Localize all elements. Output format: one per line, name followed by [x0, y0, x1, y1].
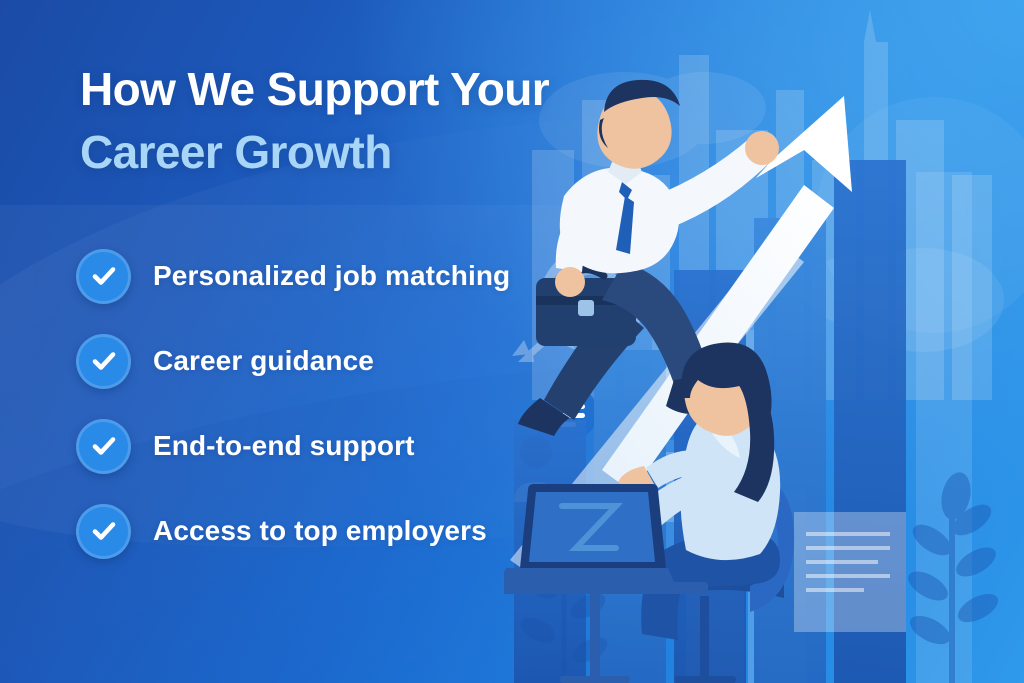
- paper-document: [794, 512, 906, 632]
- benefits-checklist: Personalized job matching Career guidanc…: [76, 248, 596, 588]
- list-item: End-to-end support: [76, 418, 596, 474]
- list-item-label: Access to top employers: [153, 515, 487, 547]
- check-icon: [76, 334, 131, 389]
- career-growth-banner: How We Support Your Career Growth Person…: [0, 0, 1024, 683]
- list-item: Personalized job matching: [76, 248, 596, 304]
- text-column: How We Support Your Career Growth Person…: [0, 0, 560, 683]
- list-item: Career guidance: [76, 333, 596, 389]
- check-icon: [76, 504, 131, 559]
- list-item-label: End-to-end support: [153, 430, 415, 462]
- page-title: How We Support Your Career Growth: [80, 58, 680, 183]
- check-icon: [76, 249, 131, 304]
- check-icon: [76, 419, 131, 474]
- headline-line-2: Career Growth: [80, 121, 680, 184]
- list-item-label: Career guidance: [153, 345, 374, 377]
- hand: [745, 131, 779, 165]
- list-item-label: Personalized job matching: [153, 260, 510, 292]
- headline-line-1: How We Support Your: [80, 58, 680, 121]
- list-item: Access to top employers: [76, 503, 596, 559]
